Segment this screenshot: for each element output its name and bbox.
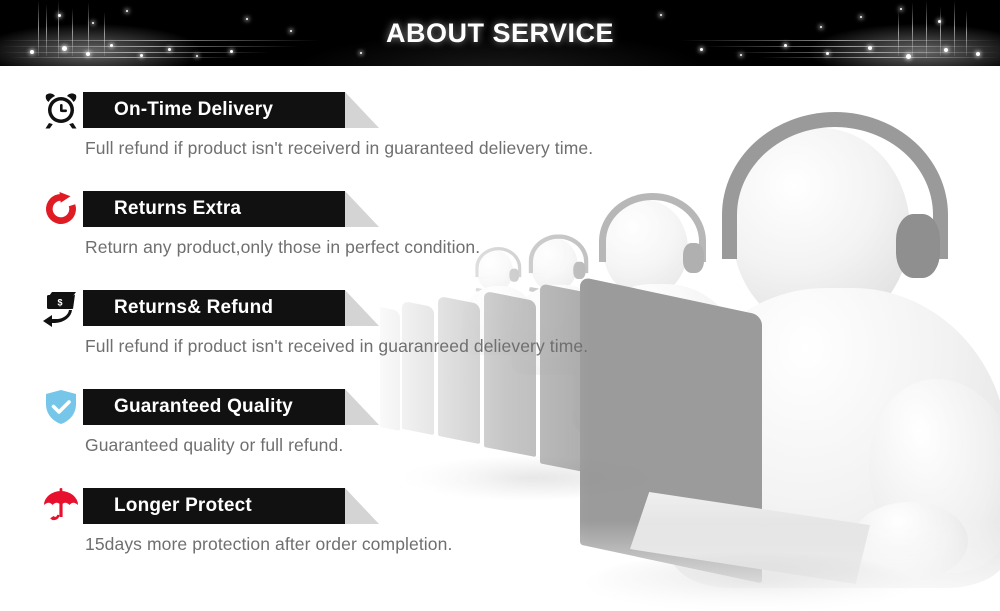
service-title: Returns Extra: [83, 198, 267, 220]
service-banner[interactable]: Longer Protect: [83, 488, 345, 524]
service-title: On-Time Delivery: [83, 99, 299, 121]
service-banner[interactable]: On-Time Delivery: [83, 92, 345, 128]
alarm-clock-icon: [38, 90, 84, 130]
umbrella-icon: [38, 486, 84, 526]
service-description: Full refund if product isn't received in…: [85, 336, 588, 357]
return-arrow-icon: [38, 189, 84, 229]
banner-shadow-tail: [345, 92, 379, 128]
money-return-icon: $: [38, 288, 84, 328]
service-list: On-Time Delivery Full refund if product …: [0, 90, 1000, 585]
service-banner[interactable]: Guaranteed Quality: [83, 389, 345, 425]
banner-shadow-tail: [345, 389, 379, 425]
about-service-page: ABOUT SERVICE: [0, 0, 1000, 611]
page-title: ABOUT SERVICE: [0, 0, 1000, 66]
banner-shadow-tail: [345, 488, 379, 524]
service-banner[interactable]: Returns Extra: [83, 191, 345, 227]
service-row: $ Returns& Refund Full refund if product…: [0, 288, 1000, 387]
shield-check-icon: [38, 387, 84, 427]
service-row: Guaranteed Quality Guaranteed quality or…: [0, 387, 1000, 486]
service-title: Longer Protect: [83, 495, 278, 517]
svg-text:$: $: [57, 298, 62, 308]
page-header: ABOUT SERVICE: [0, 0, 1000, 66]
service-title: Guaranteed Quality: [83, 396, 319, 418]
service-banner[interactable]: Returns& Refund: [83, 290, 345, 326]
banner-shadow-tail: [345, 191, 379, 227]
service-title: Returns& Refund: [83, 297, 299, 319]
service-row: Returns Extra Return any product,only th…: [0, 189, 1000, 288]
service-description: Guaranteed quality or full refund.: [85, 435, 343, 456]
service-row: On-Time Delivery Full refund if product …: [0, 90, 1000, 189]
service-row: Longer Protect 15days more protection af…: [0, 486, 1000, 585]
service-description: 15days more protection after order compl…: [85, 534, 452, 555]
service-description: Return any product,only those in perfect…: [85, 237, 480, 258]
service-description: Full refund if product isn't receiverd i…: [85, 138, 593, 159]
banner-shadow-tail: [345, 290, 379, 326]
